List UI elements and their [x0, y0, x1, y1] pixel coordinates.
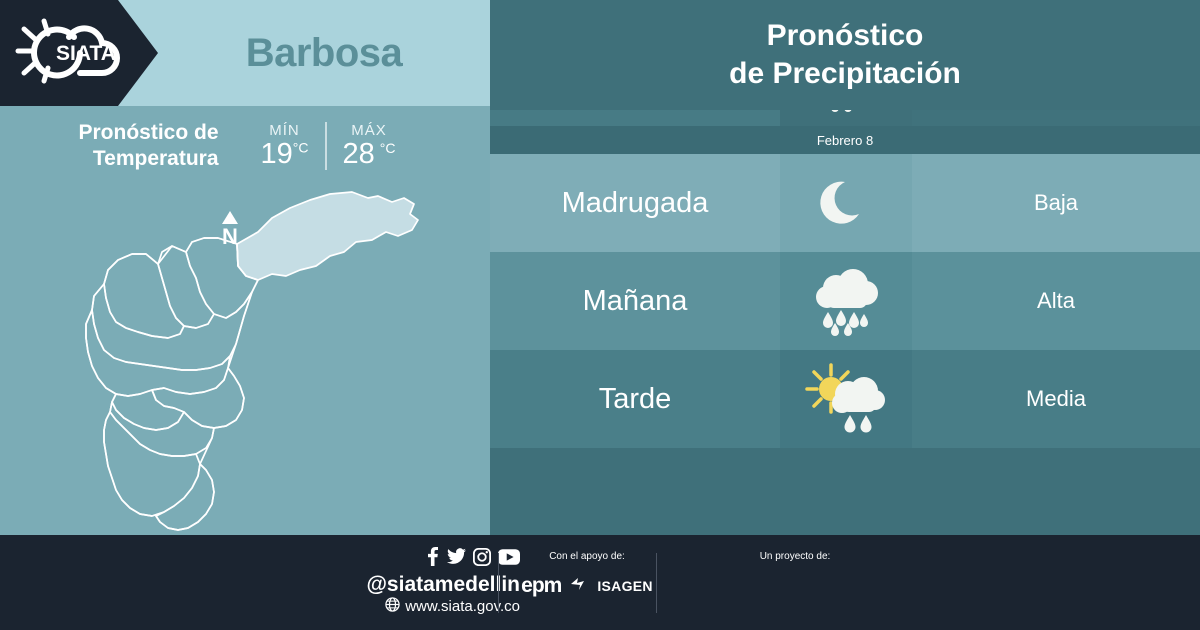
sun-rain-cloud-icon	[780, 350, 912, 448]
support-logos: epm ISAGEN	[512, 574, 662, 598]
probability-label: Media	[1026, 386, 1086, 412]
footer-divider-1	[498, 553, 499, 613]
max-value: 28	[343, 138, 375, 170]
twitter-icon[interactable]	[447, 547, 466, 571]
precipitation-title-line1: Pronóstico	[767, 17, 924, 55]
right-panel: Pronóstico de Precipitación Febrero 7 No…	[490, 0, 1200, 535]
social-handle[interactable]: @siatamedellin	[366, 573, 520, 597]
max-caption: MÁX	[351, 122, 387, 139]
forecast-row-manana: Mañana	[490, 252, 1200, 350]
map-region-barbosa	[237, 192, 418, 280]
rain-cloud-icon	[780, 252, 912, 350]
forecast-period-cell: Madrugada	[490, 154, 780, 252]
temperature-values: MÍN 19°C MÁX 28°C	[245, 122, 412, 169]
moon-icon	[780, 154, 912, 252]
left-panel: SIATA Barbosa Pronóstico de Temperatura …	[0, 0, 490, 535]
siata-logo-badge: SIATA	[0, 0, 158, 106]
website-url[interactable]: www.siata.gov.co	[405, 598, 520, 615]
forecast-period-cell: Tarde	[490, 350, 780, 448]
min-value-wrap: 19°C	[261, 139, 309, 169]
forecast-row-madrugada: Madrugada Baja	[490, 154, 1200, 252]
temperature-max: MÁX 28°C	[327, 122, 412, 169]
probability-label: Baja	[1034, 190, 1078, 216]
support-block: Con el apoyo de: epm ISAGEN	[512, 551, 662, 598]
instagram-icon[interactable]	[473, 548, 491, 571]
forecast-probability-cell: Baja	[912, 154, 1200, 252]
temperature-title-line1: Pronóstico de	[79, 120, 219, 146]
compass-north-icon: N	[222, 211, 238, 249]
isagen-logo: ISAGEN	[597, 578, 652, 594]
forecast-probability-cell: Alta	[912, 252, 1200, 350]
forecast-probability-cell: Media	[912, 350, 1200, 448]
temperature-summary: Pronóstico de Temperatura MÍN 19°C MÁX 2…	[0, 106, 490, 186]
temperature-title-line2: Temperatura	[79, 146, 219, 172]
min-unit: °C	[293, 140, 309, 156]
precipitation-title-line2: de Precipitación	[729, 55, 961, 93]
footer-divider-2	[656, 553, 657, 613]
infographic-root: SIATA Barbosa Pronóstico de Temperatura …	[0, 0, 1200, 630]
date-band-feb8: Febrero 8	[490, 126, 1200, 154]
social-block: @siatamedellin www.siata.gov.co	[330, 547, 520, 616]
social-icons	[425, 547, 520, 571]
isagen-mark-icon	[571, 577, 587, 596]
forecast-period-cell: Mañana	[490, 252, 780, 350]
min-value: 19	[261, 138, 293, 170]
period-label: Madrugada	[562, 187, 709, 220]
aburra-valley-map: N	[0, 180, 490, 535]
support-caption: Con el apoyo de:	[512, 551, 662, 562]
max-unit: °C	[375, 140, 396, 156]
left-header: SIATA Barbosa	[0, 0, 490, 106]
website-line[interactable]: www.siata.gov.co	[385, 597, 520, 616]
sun-cloud-icon: SIATA	[10, 13, 130, 94]
globe-icon	[385, 597, 400, 616]
period-label: Tarde	[599, 383, 672, 416]
temperature-min: MÍN 19°C	[245, 122, 327, 169]
max-value-wrap: 28°C	[343, 139, 396, 169]
temperature-title: Pronóstico de Temperatura	[79, 120, 219, 173]
period-label: Mañana	[583, 285, 688, 318]
page-title: Barbosa	[158, 0, 490, 106]
footer: @siatamedellin www.siata.gov.co Con el a…	[0, 535, 1200, 630]
precipitation-title: Pronóstico de Precipitación	[490, 0, 1200, 110]
project-block: Un proyecto de:	[700, 551, 890, 568]
probability-label: Alta	[1037, 288, 1075, 314]
min-caption: MÍN	[269, 122, 300, 139]
compass-label: N	[222, 224, 238, 249]
project-caption: Un proyecto de:	[700, 551, 890, 562]
forecast-row-tarde: Tarde	[490, 350, 1200, 448]
siata-logo-text: SIATA	[56, 42, 116, 65]
facebook-icon[interactable]	[425, 547, 440, 571]
epm-logo: epm	[521, 574, 561, 598]
